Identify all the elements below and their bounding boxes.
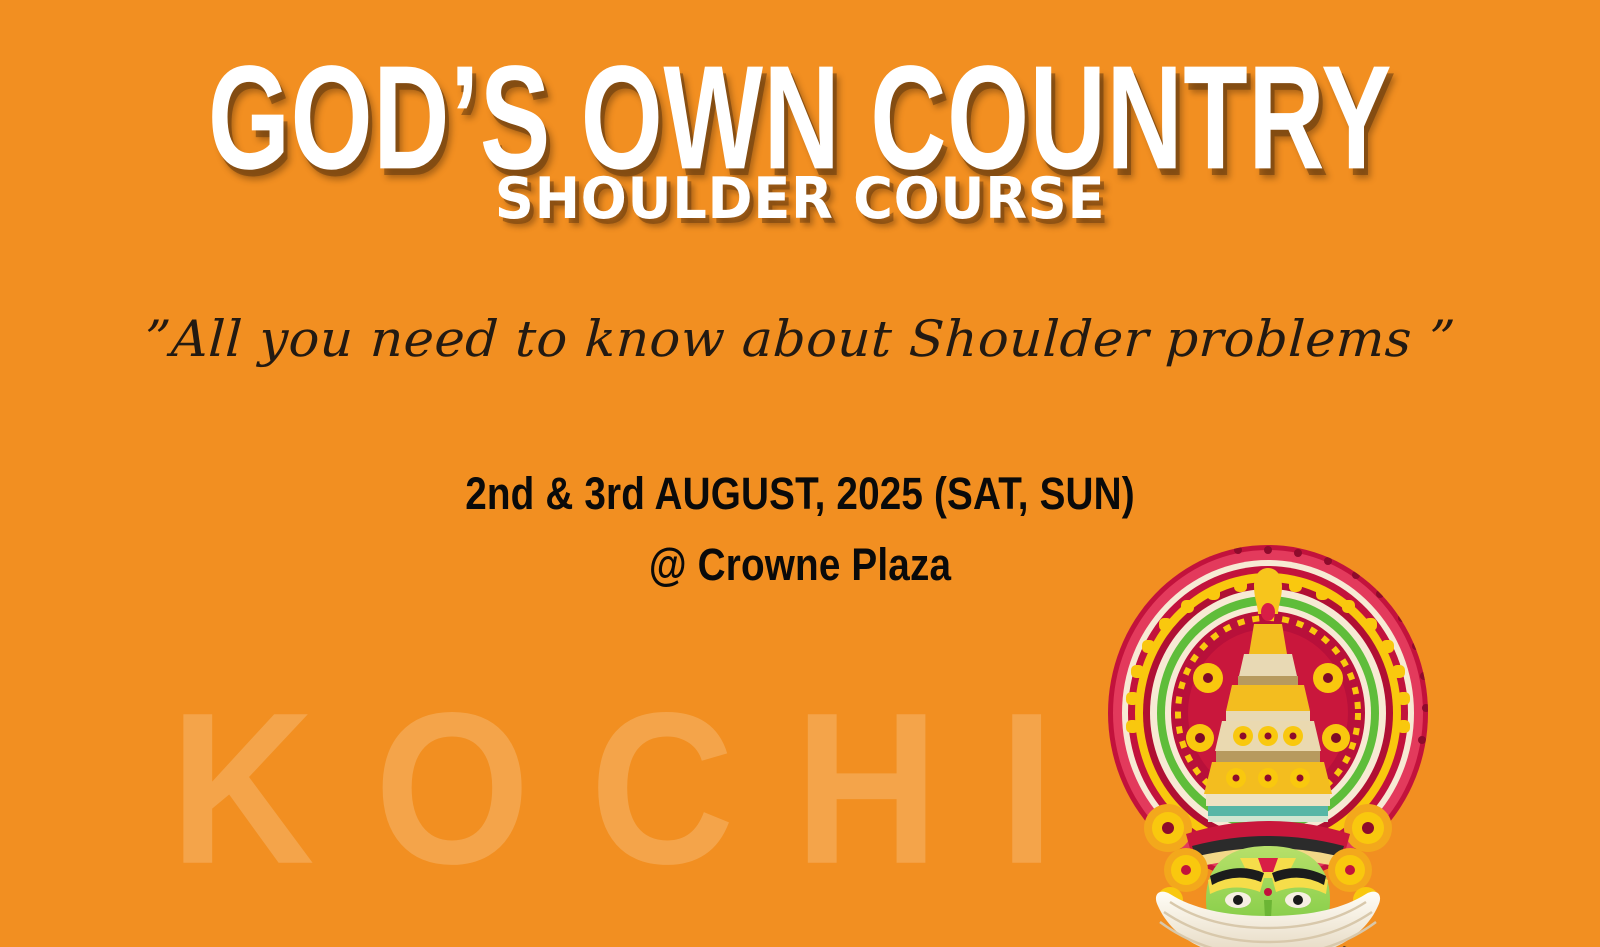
headline-block: GOD’S OWN COUNTRY SHOULDER COURSE bbox=[0, 44, 1600, 229]
tagline-text: ”All you need to know about Shoulder pro… bbox=[0, 312, 1600, 367]
page-subtitle: SHOULDER COURSE bbox=[24, 170, 1576, 230]
event-date: 2nd & 3rd AUGUST, 2025 (SAT, SUN) bbox=[80, 472, 1520, 518]
poster-canvas: KOCHI GOD’S OWN COUNTRY SHOULDER COURSE … bbox=[0, 0, 1600, 947]
kathakali-dancer-icon bbox=[1058, 528, 1478, 947]
crown-side-discs bbox=[1144, 804, 1392, 852]
city-watermark: KOCHI bbox=[170, 690, 1050, 889]
event-venue: @ Crowne Plaza bbox=[80, 543, 1520, 589]
crown-group bbox=[1092, 545, 1430, 881]
ear-ornaments bbox=[1157, 848, 1379, 913]
face-group bbox=[1206, 846, 1330, 947]
crown-tower bbox=[1204, 624, 1332, 806]
crown-rosettes bbox=[1186, 663, 1350, 803]
head-band bbox=[1186, 821, 1350, 866]
event-details: 2nd & 3rd AUGUST, 2025 (SAT, SUN) @ Crow… bbox=[0, 472, 1600, 586]
chutti-frame bbox=[1156, 892, 1380, 947]
